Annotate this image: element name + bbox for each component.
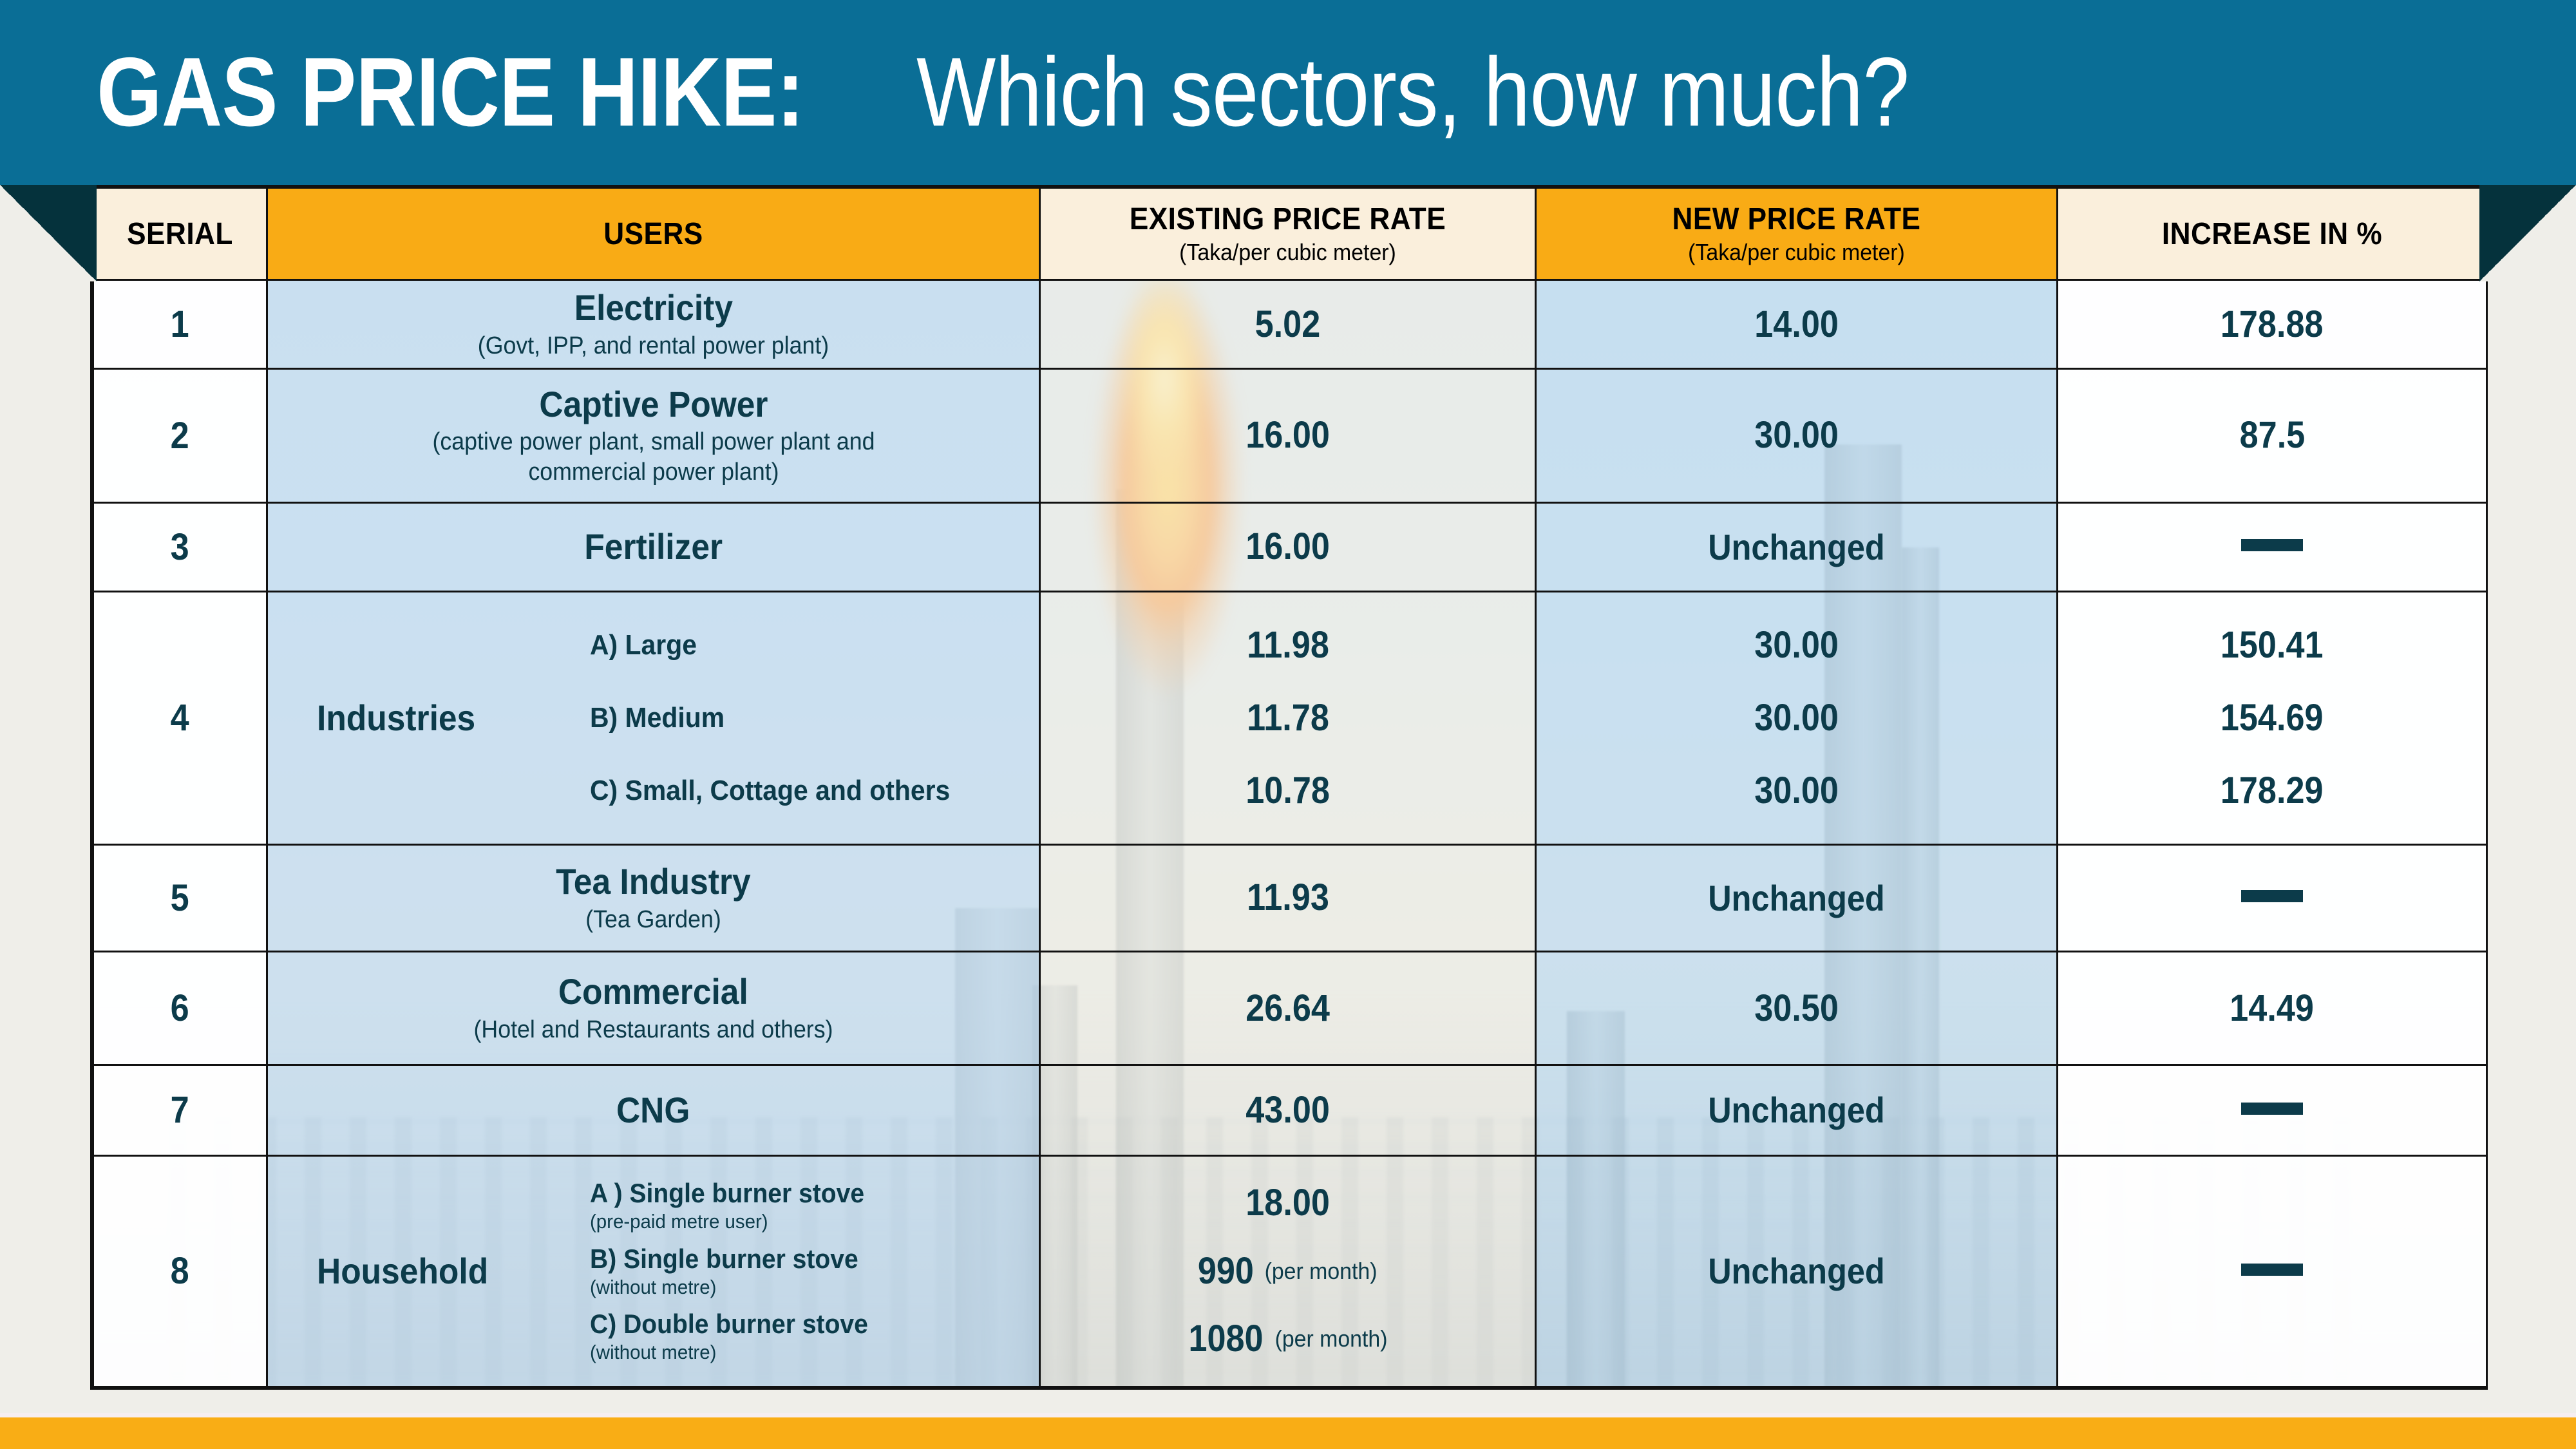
page-title-light: Which sectors, how much?	[916, 36, 1909, 149]
user-subitem: C) Double burner stove (without metre)	[590, 1309, 1039, 1364]
cell-users: Electricity (Govt, IPP, and rental power…	[267, 280, 1040, 369]
dash-icon	[2241, 1264, 2303, 1276]
cell-increase: 87.5	[2058, 369, 2487, 503]
dash-icon	[2241, 890, 2303, 902]
user-subitem: B) Single burner stove (without metre)	[590, 1244, 1039, 1299]
cell-increase: 150.41 154.69 178.29	[2058, 591, 2487, 844]
cell-increase: 178.88	[2058, 280, 2487, 369]
table-header: SERIAL USERS EXISTING PRICE RATE (Taka/p…	[93, 188, 2487, 280]
user-title: Tea Industry	[556, 862, 751, 902]
bottom-accent-bar	[0, 1417, 2576, 1449]
table-row: 5 Tea Industry (Tea Garden) 11.93 Unchan…	[93, 844, 2487, 951]
cell-existing: 16.00	[1040, 369, 1536, 503]
user-subtitle: (Hotel and Restaurants and others)	[291, 1015, 1016, 1045]
table-row: 6 Commercial (Hotel and Restaurants and …	[93, 952, 2487, 1065]
corner-notch-right-icon	[2479, 185, 2576, 281]
table-row: 2 Captive Power (captive power plant, sm…	[93, 369, 2487, 503]
cell-increase	[2058, 1065, 2487, 1155]
cell-users: CNG	[267, 1065, 1040, 1155]
table-row: 1 Electricity (Govt, IPP, and rental pow…	[93, 280, 2487, 369]
header-label-existing: EXISTING PRICE RATE	[1061, 202, 1515, 237]
user-subitem-label: C) Double burner stove	[590, 1309, 1007, 1340]
user-subitem-label: C) Small, Cottage and others	[590, 775, 1007, 807]
header-cell-new: NEW PRICE RATE (Taka/per cubic meter)	[1536, 188, 2058, 280]
cell-new: 30.00 30.00 30.00	[1536, 591, 2058, 844]
cell-new: Unchanged	[1536, 1065, 2058, 1155]
user-subitem-label: B) Medium	[590, 702, 1007, 734]
user-subitem-note: (pre-paid metre user)	[590, 1210, 1016, 1233]
header-row: SERIAL USERS EXISTING PRICE RATE (Taka/p…	[93, 188, 2487, 280]
header-cell-serial: SERIAL	[93, 188, 267, 280]
cell-users: Fertilizer	[267, 502, 1040, 591]
user-subitem-label: A ) Single burner stove	[590, 1178, 1007, 1209]
header-label-users: USERS	[299, 216, 1008, 252]
title-band: GAS PRICE HIKE: Which sectors, how much?	[0, 0, 2576, 185]
cell-users: Household A ) Single burner stove (pre-p…	[267, 1155, 1040, 1387]
cell-new: 30.50	[1536, 952, 2058, 1065]
cell-existing: 43.00	[1040, 1065, 1536, 1155]
user-subitem-note: (without metre)	[590, 1341, 1016, 1364]
user-subtitle: (captive power plant, small power plant …	[423, 427, 883, 487]
dash-icon	[2241, 539, 2303, 551]
page-title-strong: GAS PRICE HIKE:	[97, 36, 804, 149]
cell-users: Captive Power (captive power plant, smal…	[267, 369, 1040, 503]
user-subitem-note: (without metre)	[590, 1276, 1016, 1299]
cell-users: Commercial (Hotel and Restaurants and ot…	[267, 952, 1040, 1065]
cell-existing: 11.93	[1040, 844, 1536, 951]
cell-new: Unchanged	[1536, 844, 2058, 951]
cell-serial: 5	[93, 844, 267, 951]
dash-icon	[2241, 1103, 2303, 1115]
header-label-increase: INCREASE IN %	[2076, 216, 2469, 252]
cell-serial: 3	[93, 502, 267, 591]
corner-notch-left-icon	[0, 185, 97, 281]
user-group-name: Household	[317, 1250, 554, 1292]
infographic-page: GAS PRICE HIKE: Which sectors, how much?	[0, 0, 2576, 1449]
price-table: SERIAL USERS EXISTING PRICE RATE (Taka/p…	[90, 185, 2488, 1390]
table-row: 8 Household A ) Single burner stove (pre…	[93, 1155, 2487, 1387]
cell-serial: 8	[93, 1155, 267, 1387]
cell-new: 14.00	[1536, 280, 2058, 369]
cell-serial: 1	[93, 280, 267, 369]
header-subtitle-existing: (Taka/per cubic meter)	[1056, 239, 1520, 266]
cell-existing: 18.00 990 (per month) 1080 (per month)	[1040, 1155, 1536, 1387]
user-title: Electricity	[574, 288, 732, 328]
table-row: 3 Fertilizer 16.00 Unchanged	[93, 502, 2487, 591]
user-subtitle: (Tea Garden)	[291, 905, 1016, 934]
cell-serial: 4	[93, 591, 267, 844]
cell-increase	[2058, 502, 2487, 591]
header-cell-existing: EXISTING PRICE RATE (Taka/per cubic mete…	[1040, 188, 1536, 280]
bottom-rule	[0, 1413, 2576, 1417]
cell-new: Unchanged	[1536, 502, 2058, 591]
cell-new: 30.00	[1536, 369, 2058, 503]
header-cell-increase: INCREASE IN %	[2058, 188, 2487, 280]
user-subitem-label: A) Large	[590, 629, 1007, 661]
cell-serial: 6	[93, 952, 267, 1065]
cell-existing: 5.02	[1040, 280, 1536, 369]
cell-increase	[2058, 1155, 2487, 1387]
header-cell-users: USERS	[267, 188, 1040, 280]
header-subtitle-new: (Taka/per cubic meter)	[1552, 239, 2041, 266]
user-title: CNG	[616, 1090, 690, 1131]
cell-existing: 26.64	[1040, 952, 1536, 1065]
cell-new: Unchanged	[1536, 1155, 2058, 1387]
per-month-note: (per month)	[1264, 1258, 1377, 1285]
cell-serial: 7	[93, 1065, 267, 1155]
price-grid: SERIAL USERS EXISTING PRICE RATE (Taka/p…	[92, 187, 2488, 1388]
per-month-note: (per month)	[1275, 1325, 1388, 1352]
table-row: 7 CNG 43.00 Unchanged	[93, 1065, 2487, 1155]
table-body: 1 Electricity (Govt, IPP, and rental pow…	[93, 280, 2487, 1387]
user-group-name: Industries	[317, 697, 554, 739]
user-subtitle: (Govt, IPP, and rental power plant)	[291, 331, 1016, 361]
table-row: 4 Industries A) Large B) Medium C) Small…	[93, 591, 2487, 844]
user-title: Commercial	[558, 972, 748, 1012]
header-label-new: NEW PRICE RATE	[1557, 202, 2035, 237]
user-subitem: A ) Single burner stove (pre-paid metre …	[590, 1178, 1039, 1233]
cell-serial: 2	[93, 369, 267, 503]
cell-users: Tea Industry (Tea Garden)	[267, 844, 1040, 951]
header-label-serial: SERIAL	[101, 216, 260, 252]
user-subitem-label: B) Single burner stove	[590, 1244, 1007, 1274]
cell-existing: 11.98 11.78 10.78	[1040, 591, 1536, 844]
user-title: Captive Power	[539, 384, 768, 425]
user-title: Fertilizer	[584, 527, 723, 567]
cell-increase: 14.49	[2058, 952, 2487, 1065]
cell-existing: 16.00	[1040, 502, 1536, 591]
cell-users: Industries A) Large B) Medium C) Small, …	[267, 591, 1040, 844]
cell-increase	[2058, 844, 2487, 951]
